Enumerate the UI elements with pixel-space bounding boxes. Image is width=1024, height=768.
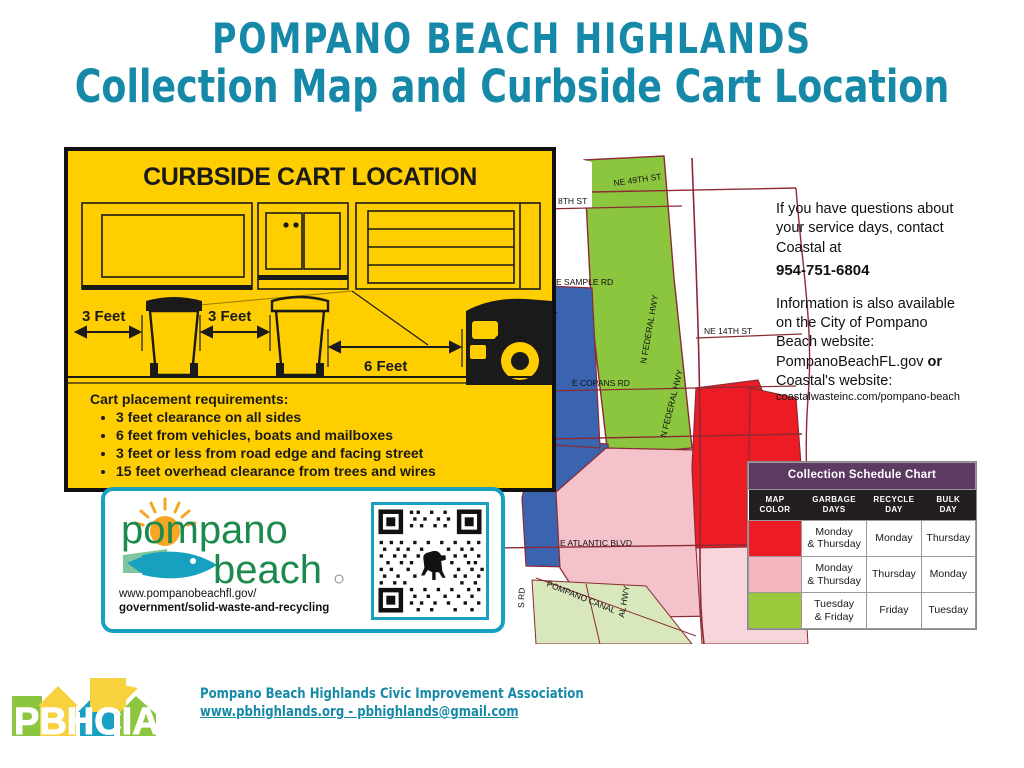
- cart-requirements-block: Cart placement requirements: 3 feet clea…: [90, 391, 550, 481]
- column-header-garbage-days: GARBAGE DAYS: [802, 489, 867, 520]
- requirement-item: 3 feet clearance on all sides: [116, 409, 550, 427]
- map-label-8th-st: 8TH ST: [558, 196, 587, 206]
- map-color-swatch-red: [749, 520, 802, 556]
- map-label-e-atlantic-blvd: E ATLANTIC BLVD: [560, 538, 632, 548]
- bulk-day-cell: Monday: [921, 556, 975, 592]
- bulk-day-cell: Thursday: [921, 520, 975, 556]
- cart-placement-illustration: 3 Feet 3 Feet 6 Feet: [68, 195, 552, 385]
- garbage-day-a: Monday: [815, 562, 852, 574]
- map-color-swatch-green: [749, 593, 802, 629]
- header-day-2: DAY: [940, 505, 957, 514]
- contact-spacer: [776, 281, 971, 295]
- header-recycle: RECYCLE: [873, 495, 914, 504]
- contact-paragraph-2: Information is also available on the Cit…: [776, 295, 971, 391]
- requirement-item: 6 feet from vehicles, boats and mailboxe…: [116, 427, 550, 445]
- qr-code-solid-waste[interactable]: [371, 502, 489, 620]
- dimension-label-3ft-right: 3 Feet: [208, 308, 251, 325]
- poster-canvas: POMPANO BEACH HIGHLANDS Collection Map a…: [0, 0, 1024, 768]
- requirements-list: 3 feet clearance on all sides 6 feet fro…: [90, 409, 550, 481]
- pompano-beach-info-card: pompano beach www.pompanobeachfl.gov/ go…: [101, 487, 505, 633]
- column-header-bulk-day: BULK DAY: [921, 489, 975, 520]
- map-label-e-sample-rd: E SAMPLE RD: [556, 277, 613, 287]
- garbage-day-b: & Friday: [815, 611, 854, 623]
- dimension-label-6ft: 6 Feet: [364, 358, 407, 375]
- association-info: Pompano Beach Highlands Civic Improvemen…: [200, 686, 480, 720]
- header-bulk: BULK: [936, 495, 960, 504]
- collection-schedule-table: Collection Schedule Chart MAP COLOR GARB…: [748, 462, 976, 629]
- trash-cart-2: [272, 297, 328, 377]
- column-header-recycle-day: RECYCLE DAY: [867, 489, 921, 520]
- pompano-beach-logo: pompano beach: [117, 497, 357, 589]
- garbage-days-cell: Monday & Thursday: [802, 520, 867, 556]
- contact-paragraph-1: If you have questions about your service…: [776, 200, 971, 258]
- trash-cart-1: [146, 297, 202, 377]
- bulk-day-cell: Tuesday: [921, 593, 975, 629]
- table-row: Monday & Thursday Thursday Monday: [749, 556, 976, 592]
- recycle-day-cell: Friday: [867, 593, 921, 629]
- contact-coastal-text: Coastal's website:: [776, 373, 892, 389]
- contact-or-word: or: [928, 354, 943, 370]
- map-label-ne-14th-st: NE 14TH ST: [704, 326, 752, 336]
- contact-phone[interactable]: 954-751-6804: [776, 261, 971, 281]
- map-label-s-rd: S RD: [516, 587, 527, 608]
- title-line-1: POMPANO BEACH HIGHLANDS: [61, 18, 962, 61]
- map-label-e-copans-rd: E COPANS RD: [572, 378, 630, 388]
- table-header-row: MAP COLOR GARBAGE DAYS RECYCLE DAY BULK …: [749, 489, 976, 520]
- requirement-item: 15 feet overhead clearance from trees an…: [116, 463, 550, 481]
- pompano-website-url[interactable]: www.pompanobeachfl.gov/ government/solid…: [119, 587, 369, 616]
- header-garbage: GARBAGE: [812, 495, 856, 504]
- garbage-day-a: Monday: [815, 526, 852, 538]
- url-line-1: www.pompanobeachfl.gov/: [119, 587, 369, 601]
- curbside-cart-location-panel: CURBSIDE CART LOCATION: [64, 147, 556, 492]
- table-caption-row: Collection Schedule Chart: [749, 463, 976, 490]
- table-row: Tuesday & Friday Friday Tuesday: [749, 593, 976, 629]
- contact-info-block: If you have questions about your service…: [776, 200, 971, 405]
- pbhcia-logo-text: PBHCIA: [14, 701, 160, 743]
- association-contact[interactable]: www.pbhighlands.org - pbhighlands@gmail.…: [200, 704, 460, 720]
- recycle-day-cell: Monday: [867, 520, 921, 556]
- logo-word-beach: beach: [213, 548, 322, 589]
- qr-graphic: [374, 505, 486, 617]
- dimension-label-3ft-left: 3 Feet: [82, 308, 125, 325]
- header-days: DAYS: [823, 505, 846, 514]
- requirement-item: 3 feet or less from road edge and facing…: [116, 445, 550, 463]
- page-title: POMPANO BEACH HIGHLANDS Collection Map a…: [0, 18, 1024, 110]
- requirements-heading: Cart placement requirements:: [90, 391, 550, 407]
- table-row: Monday & Thursday Monday Thursday: [749, 520, 976, 556]
- association-name: Pompano Beach Highlands Civic Improvemen…: [200, 686, 460, 702]
- header-map: MAP: [766, 495, 785, 504]
- contact-coastal-url[interactable]: coastalwasteinc.com/pompano-beach: [776, 391, 971, 405]
- header-color: COLOR: [760, 505, 791, 514]
- title-line-2: Collection Map and Curbside Cart Locatio…: [51, 63, 973, 110]
- header-day-1: DAY: [885, 505, 902, 514]
- vehicle-silhouette: [466, 299, 552, 385]
- cart-panel-heading: CURBSIDE CART LOCATION: [68, 163, 552, 192]
- logo-word-pompano: pompano: [121, 508, 288, 552]
- footer-bar: PBHCIA Pompano Beach Highlands Civic Imp…: [0, 660, 1024, 768]
- recycle-day-cell: Thursday: [867, 556, 921, 592]
- url-line-2: government/solid-waste-and-recycling: [119, 601, 369, 615]
- table-caption: Collection Schedule Chart: [749, 463, 976, 490]
- garbage-day-a: Tuesday: [814, 598, 854, 610]
- pbhcia-logo: PBHCIA: [8, 668, 198, 746]
- garbage-day-b: & Thursday: [807, 538, 861, 550]
- fish-icon: [139, 552, 217, 579]
- column-header-map-color: MAP COLOR: [749, 489, 802, 520]
- garbage-days-cell: Monday & Thursday: [802, 556, 867, 592]
- garbage-day-b: & Thursday: [807, 575, 861, 587]
- map-color-swatch-pink: [749, 556, 802, 592]
- garbage-days-cell: Tuesday & Friday: [802, 593, 867, 629]
